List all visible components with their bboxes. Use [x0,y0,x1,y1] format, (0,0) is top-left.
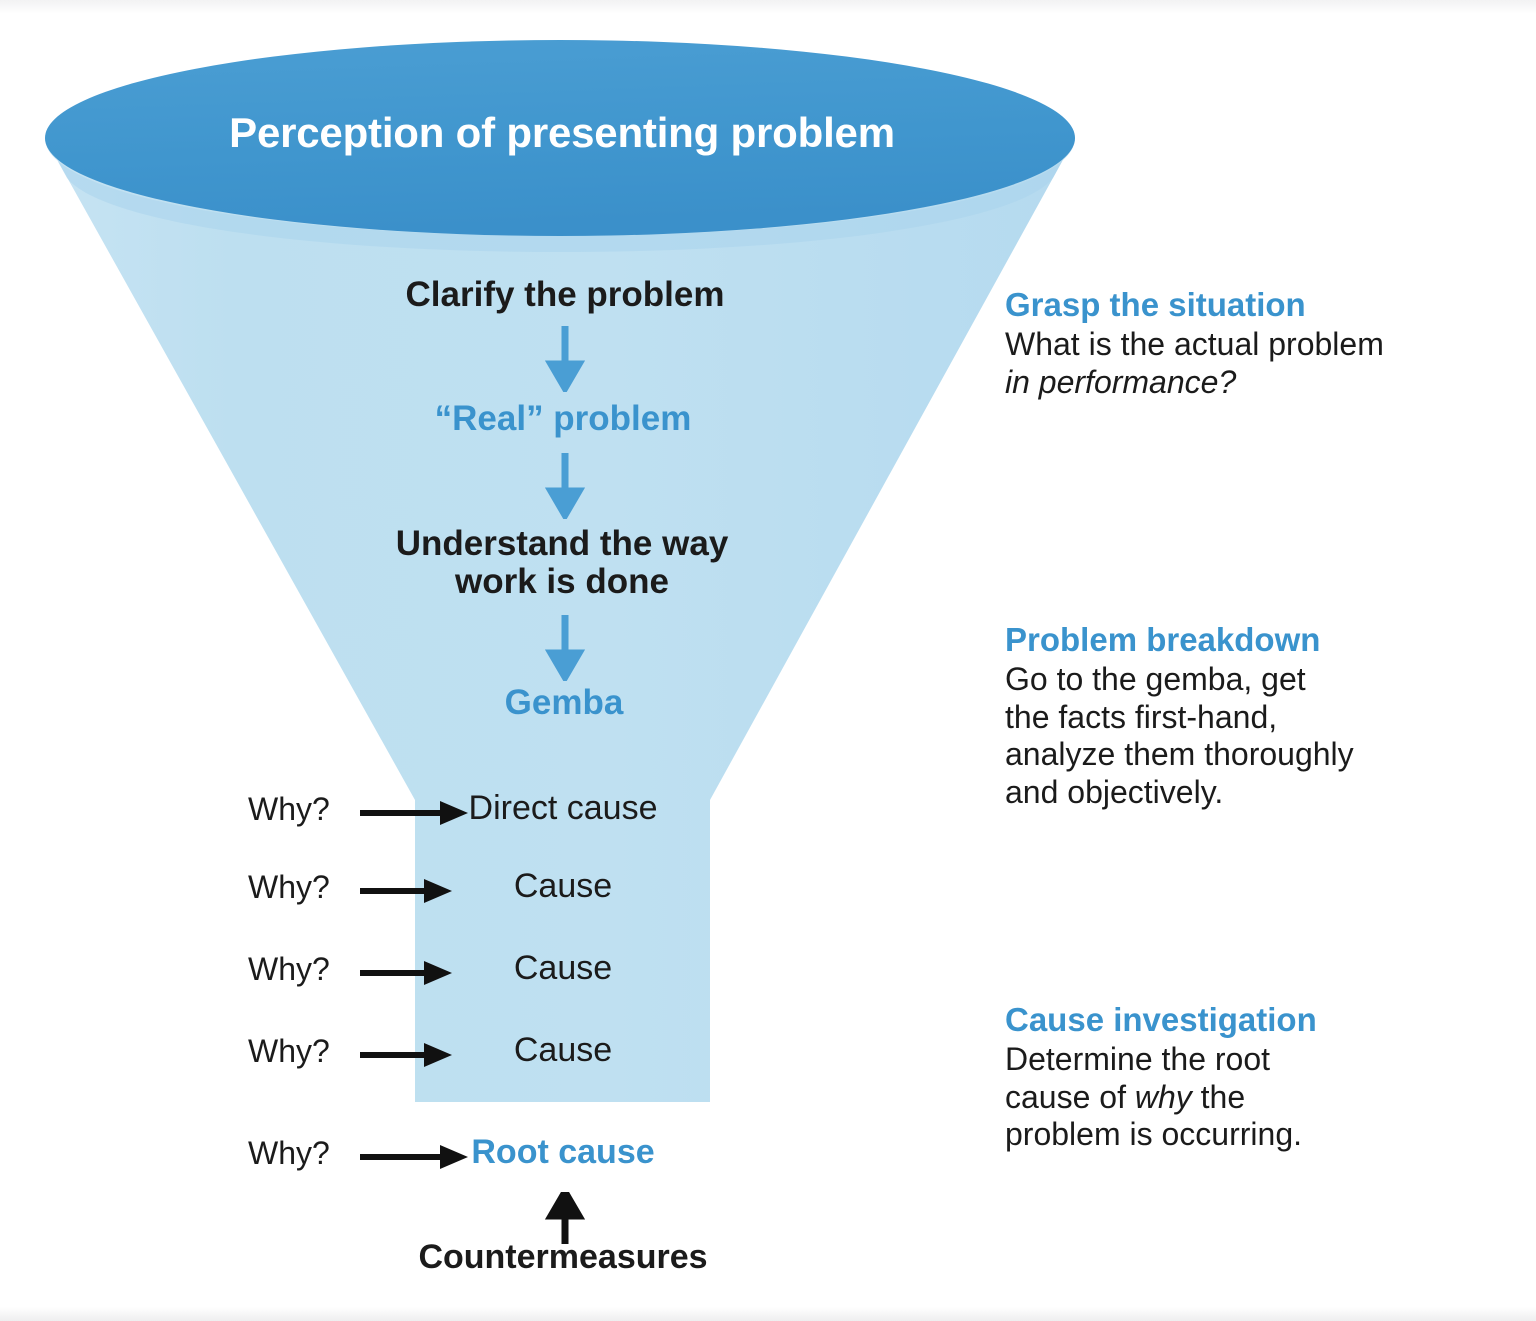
arrow-down-icon [540,615,590,681]
why-label-3: Why? [248,1034,330,1069]
note-line: analyze them thoroughly [1005,736,1505,774]
note-line: and objectively. [1005,774,1505,812]
note-grasp-the-situation: Grasp the situation What is the actual p… [1005,286,1505,401]
note-line-emphasis: why [1135,1079,1192,1115]
why-label-2: Why? [248,952,330,987]
note-problem-breakdown: Problem breakdown Go to the gemba, get t… [1005,621,1505,812]
note-title: Grasp the situation [1005,286,1505,325]
note-line: problem is occurring. [1005,1116,1505,1154]
why-label-1: Why? [248,870,330,905]
why-label-0: Why? [248,792,330,827]
arrow-right-icon [360,1040,458,1070]
note-line: Determine the root [1005,1041,1505,1079]
note-line-part: cause of [1005,1079,1135,1115]
funnel-step-real-problem: “Real” problem [435,400,692,438]
cause-label-0: Direct cause [469,790,658,827]
note-cause-investigation: Cause investigation Determine the root c… [1005,1001,1505,1154]
note-line-emphasis: in performance? [1005,364,1236,400]
arrow-right-icon [360,876,458,906]
note-title: Problem breakdown [1005,621,1505,660]
note-line: Go to the gemba, get [1005,661,1505,699]
cause-label-3: Cause [514,1032,612,1069]
note-title: Cause investigation [1005,1001,1505,1040]
cause-label-root-cause: Root cause [471,1134,654,1171]
diagram-canvas: Perception of presenting problem Clarify… [0,0,1536,1321]
arrow-down-icon [540,453,590,519]
note-line: in performance? [1005,364,1505,402]
why-label-4: Why? [248,1136,330,1171]
arrow-right-icon [360,1142,474,1172]
funnel-step-clarify-the-problem: Clarify the problem [406,276,725,314]
funnel-title: Perception of presenting problem [229,110,895,155]
arrow-right-icon [360,798,474,828]
cause-label-1: Cause [514,868,612,905]
funnel-step-understand-the-way-work-is-done: Understand the way work is done [396,525,729,601]
arrow-right-icon [360,958,458,988]
arrow-down-icon [540,326,590,392]
note-line: the facts first-hand, [1005,699,1505,737]
note-line-part: the [1192,1079,1245,1115]
funnel-step-gemba: Gemba [505,684,624,722]
note-line: cause of why the [1005,1079,1505,1117]
cause-label-2: Cause [514,950,612,987]
note-line: What is the actual problem [1005,326,1505,364]
countermeasures-label: Countermeasures [418,1239,707,1276]
